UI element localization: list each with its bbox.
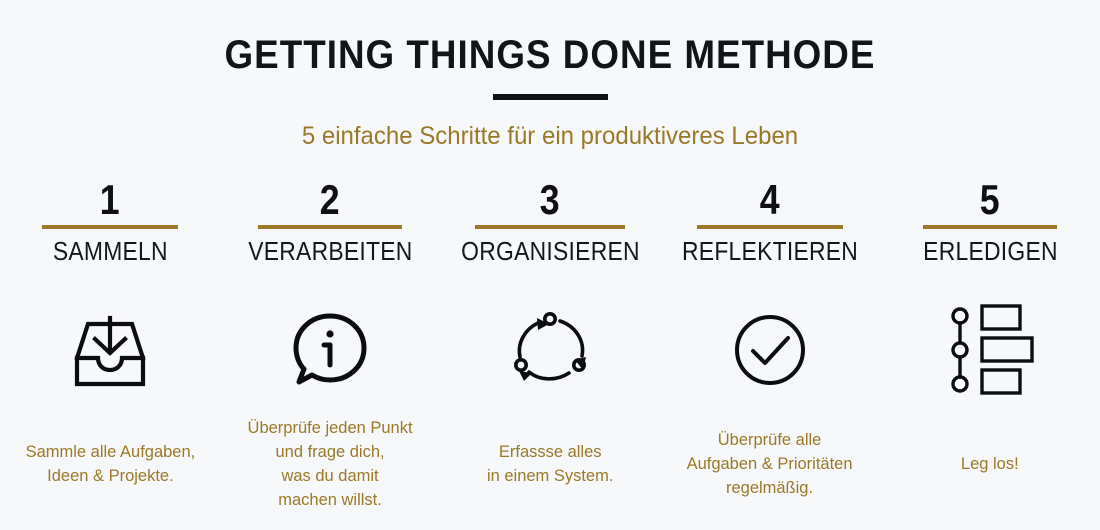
header: GETTING THINGS DONE METHODE 5 einfache S… [0, 0, 1100, 151]
caption-line: was du damit [247, 464, 412, 488]
cycle-arrow-top [537, 318, 549, 330]
steps-header-row: 1 SAMMELN 2 VERARBEITEN 3 ORGANISIEREN 4… [0, 178, 1100, 266]
step-5-caption-cell: Leg los! [880, 408, 1100, 520]
step-1-icon-cell [0, 300, 220, 400]
step-label: SAMMELN [52, 236, 167, 266]
info-speech-bubble-icon [289, 309, 371, 391]
caption-line: Erfassse alles [487, 440, 613, 464]
step-number: 2 [320, 178, 340, 222]
step-number: 3 [540, 178, 560, 222]
step-divider [475, 225, 625, 229]
step-number: 1 [100, 178, 120, 222]
step-caption: Erfassse alles in einem System. [487, 440, 613, 488]
step-label: ERLEDIGEN [923, 236, 1058, 266]
step-2-icon-cell [220, 300, 440, 400]
step-4-caption-cell: Überprüfe alle Aufgaben & Prioritäten re… [660, 408, 880, 520]
step-divider [923, 225, 1057, 229]
caption-line: machen willst. [247, 488, 412, 512]
caption-line: Sammle alle Aufgaben, [25, 440, 195, 464]
infographic-root: GETTING THINGS DONE METHODE 5 einfache S… [0, 0, 1100, 530]
task-list-timeline-icon [944, 304, 1036, 396]
step-caption: Sammle alle Aufgaben, Ideen & Projekte. [25, 440, 195, 488]
caption-line: in einem System. [487, 464, 613, 488]
page-title: GETTING THINGS DONE METHODE [44, 0, 1056, 79]
caption-line: Überprüfe jeden Punkt [247, 416, 412, 440]
step-3-caption-cell: Erfassse alles in einem System. [440, 408, 660, 520]
step-label: VERARBEITEN [248, 236, 412, 266]
step-1-header: 1 SAMMELN [0, 178, 220, 266]
info-dot [326, 330, 333, 337]
page-subtitle: 5 einfache Schritte für ein produktivere… [22, 100, 1078, 151]
step-5-icon-cell [880, 300, 1100, 400]
step-number: 4 [760, 178, 780, 222]
step-divider [697, 225, 843, 229]
step-caption: Überprüfe jeden Punkt und frage dich, wa… [247, 416, 412, 512]
caption-line: Aufgaben & Prioritäten [687, 452, 853, 476]
step-4-icon-cell [660, 300, 880, 400]
step-3-icon-cell [440, 300, 660, 400]
caption-line: regelmäßig. [687, 476, 853, 500]
step-3-header: 3 ORGANISIEREN [440, 178, 660, 266]
step-number: 5 [980, 178, 1000, 222]
icons-row [0, 300, 1100, 400]
caption-line: Ideen & Projekte. [25, 464, 195, 488]
caption-line: Leg los! [961, 452, 1019, 476]
step-5-header: 5 ERLEDIGEN [880, 178, 1100, 266]
step-caption: Leg los! [961, 452, 1019, 476]
step-2-header: 2 VERARBEITEN [220, 178, 440, 266]
cycle-nodes-icon [507, 310, 593, 390]
inbox-download-icon [67, 310, 153, 390]
step-4-header: 4 REFLEKTIEREN [660, 178, 880, 266]
check-circle-icon [730, 310, 810, 390]
step-2-caption-cell: Überprüfe jeden Punkt und frage dich, wa… [220, 408, 440, 520]
step-divider [42, 225, 178, 229]
captions-row: Sammle alle Aufgaben, Ideen & Projekte. … [0, 408, 1100, 520]
step-divider [258, 225, 402, 229]
step-caption: Überprüfe alle Aufgaben & Prioritäten re… [687, 428, 853, 500]
caption-line: und frage dich, [247, 440, 412, 464]
caption-line: Überprüfe alle [687, 428, 853, 452]
step-label: REFLEKTIEREN [682, 236, 858, 266]
step-label: ORGANISIEREN [461, 236, 640, 266]
step-1-caption-cell: Sammle alle Aufgaben, Ideen & Projekte. [0, 408, 220, 520]
